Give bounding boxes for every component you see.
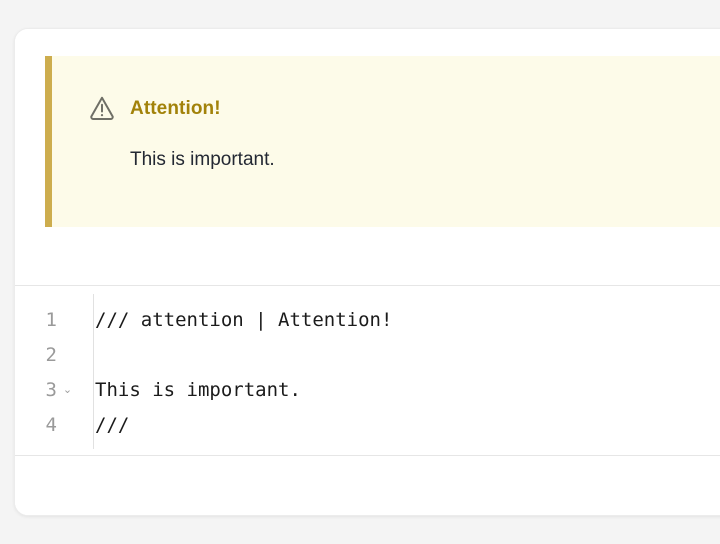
code-line-row[interactable]: 3 ⌄ This is important.	[15, 372, 720, 407]
line-number: 2	[15, 344, 57, 366]
line-number: 1	[15, 309, 57, 331]
chevron-down-icon[interactable]: ⌄	[63, 384, 72, 395]
gutter-divider	[93, 294, 94, 449]
code-line-text[interactable]: This is important.	[78, 379, 301, 401]
code-line-text[interactable]: /// attention | Attention!	[78, 309, 392, 331]
warning-triangle-icon	[88, 94, 116, 122]
admonition-title: Attention!	[130, 99, 221, 118]
code-line-row[interactable]: 2	[15, 337, 720, 372]
fold-marker-cell[interactable]	[57, 350, 78, 360]
code-line-row[interactable]: 4 ///	[15, 407, 720, 442]
code-line-text[interactable]: ///	[78, 414, 129, 436]
rendered-preview-pane: Attention! This is important.	[15, 29, 720, 286]
attention-admonition-block: Attention! This is important.	[45, 56, 720, 227]
admonition-header: Attention!	[52, 56, 720, 122]
line-number: 4	[15, 414, 57, 436]
admonition-body-text: This is important.	[52, 122, 720, 173]
source-editor-pane: 1 /// attention | Attention! 2 3 ⌄ This …	[15, 286, 720, 516]
fold-marker-cell[interactable]: ⌄	[57, 384, 78, 396]
editor-footer-area	[15, 456, 720, 515]
line-number: 3	[15, 379, 57, 401]
code-editor[interactable]: 1 /// attention | Attention! 2 3 ⌄ This …	[15, 286, 720, 456]
code-line-row[interactable]: 1 /// attention | Attention!	[15, 302, 720, 337]
fold-marker-cell[interactable]	[57, 420, 78, 430]
admonition-preview-card: Attention! This is important. 1 /// atte…	[14, 28, 720, 516]
fold-marker-cell[interactable]	[57, 315, 78, 325]
